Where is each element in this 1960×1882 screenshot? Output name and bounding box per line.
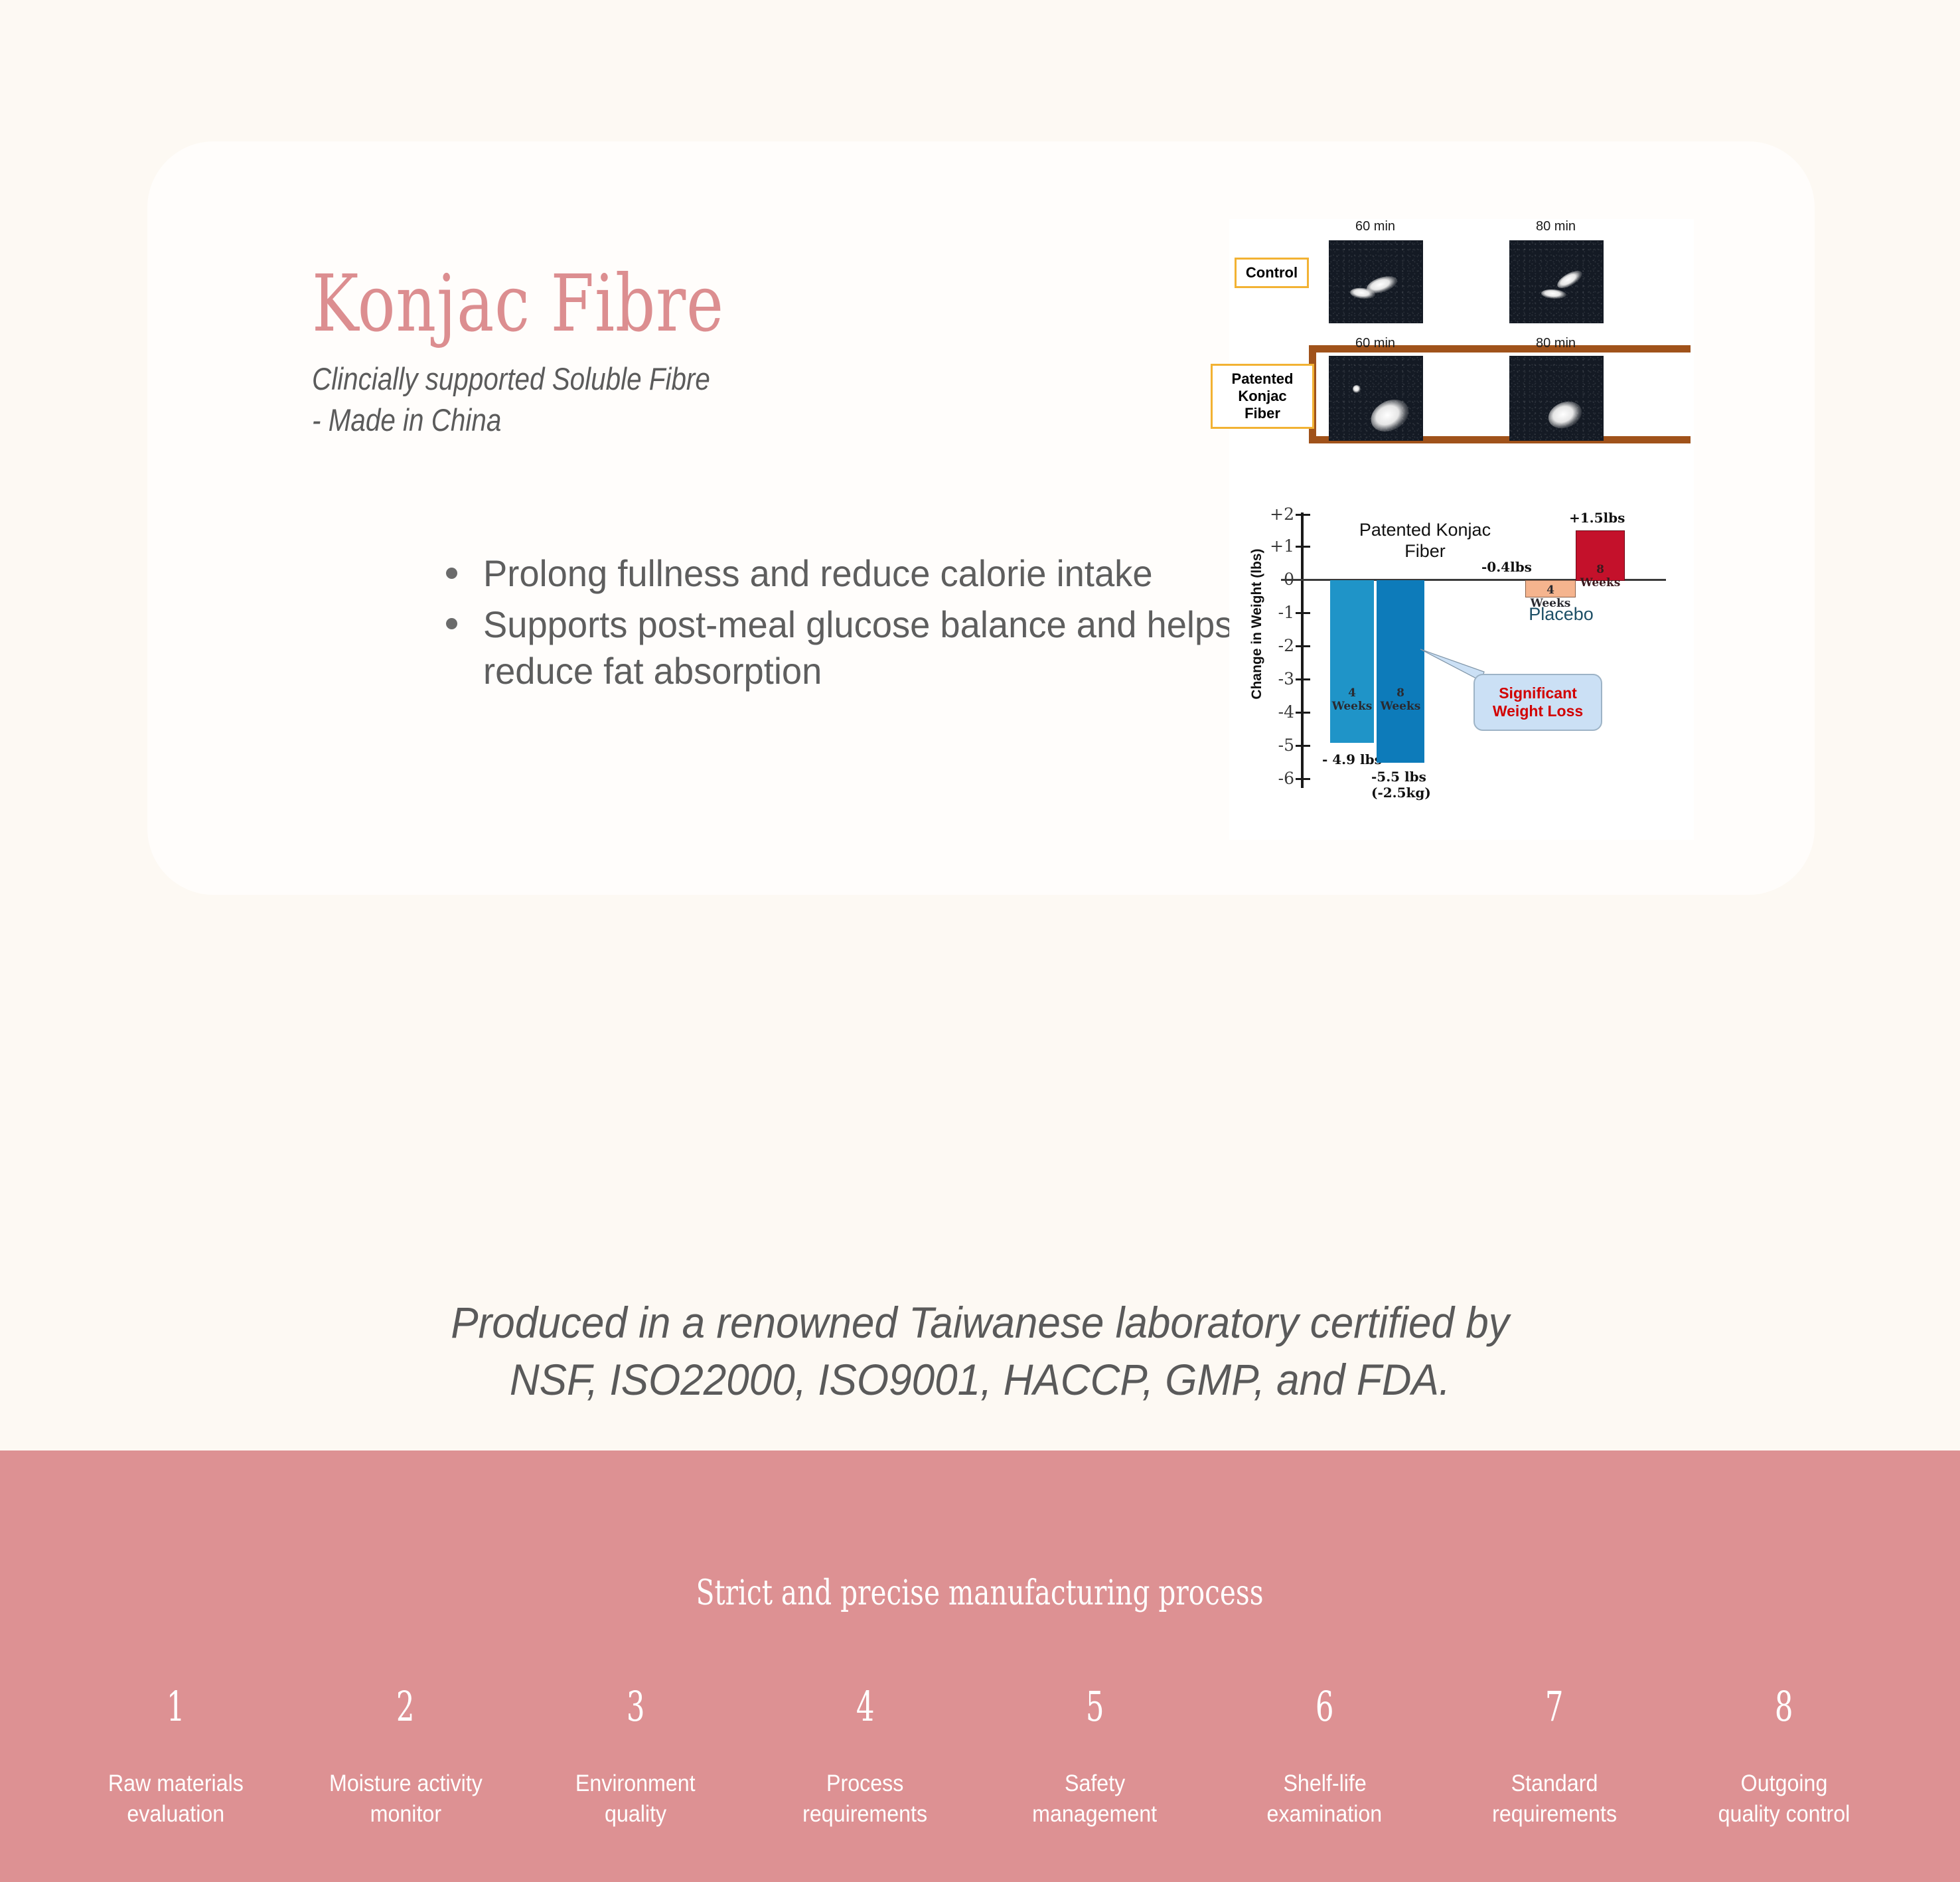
step-label-line-1: Shelf-life <box>1283 1768 1366 1799</box>
y-tick-label: -4 <box>1257 702 1294 722</box>
step-label-line-2: requirements <box>802 1799 927 1830</box>
konjac-label-line-2: Konjac Fiber <box>1219 388 1306 422</box>
scan-time-label: 80 min <box>1516 336 1596 351</box>
bar-konjac-4weeks: 4 Weeks <box>1330 580 1374 743</box>
certification-line-2: NSF, ISO22000, ISO9001, HACCP, GMP, and … <box>59 1352 1902 1409</box>
bar-inner-label: 4 Weeks <box>1330 686 1374 713</box>
process-step-3: 3 Environment quality <box>526 1686 745 1830</box>
process-heading-text: Strict and precise manufacturing process <box>696 1573 1264 1613</box>
title-block: Konjac Fibre Clincially supported Solubl… <box>312 264 1274 441</box>
step-label-line-2: monitor <box>370 1799 441 1830</box>
y-tick-mark <box>1296 546 1310 548</box>
step-number-text: 2 <box>396 1686 415 1727</box>
subtitle-line-2: - Made in China <box>312 400 1140 441</box>
scan-noise-texture <box>1509 240 1604 323</box>
y-tick-label: -3 <box>1257 669 1294 688</box>
step-number: 2 <box>296 1686 515 1727</box>
bar-value-konjac-8weeks: -5.5 lbs (-2.5kg) <box>1371 769 1431 801</box>
step-label-line-1: Raw materials <box>108 1768 244 1799</box>
step-number-text: 6 <box>1316 1686 1334 1727</box>
step-number: 4 <box>755 1686 974 1727</box>
y-tick-mark <box>1296 712 1310 714</box>
callout-line-1: Significant <box>1493 684 1583 702</box>
step-label: Shelf-life examination <box>1215 1768 1434 1830</box>
process-step-4: 4 Process requirements <box>755 1686 974 1830</box>
step-number-text: 3 <box>626 1686 644 1727</box>
step-label-line-1: Outgoing <box>1741 1768 1828 1799</box>
page-title: Konjac Fibre <box>312 264 1082 343</box>
bar-konjac-8weeks: 8 Weeks <box>1377 580 1424 763</box>
benefit-bullet-list: Prolong fullness and reduce calorie inta… <box>431 550 1268 699</box>
bar-inner-label: 8 Weeks <box>1377 686 1424 713</box>
step-number: 3 <box>526 1686 745 1727</box>
clinical-evidence-figure: 60 min 80 min Control 60 min 80 min <box>1229 219 1694 840</box>
bar-placebo-4weeks: 4 Weeks <box>1525 580 1576 597</box>
gastric-emptying-scan-figure: 60 min 80 min Control 60 min 80 min <box>1229 219 1694 498</box>
step-number-text: 4 <box>856 1686 875 1727</box>
y-tick-label: +2 <box>1257 505 1294 524</box>
process-step-5: 5 Safety management <box>986 1686 1205 1830</box>
y-tick-label: -5 <box>1257 736 1294 755</box>
step-label: Safety management <box>986 1768 1205 1830</box>
certification-line-1: Produced in a renowned Taiwanese laborat… <box>59 1294 1902 1352</box>
step-label-line-1: Standard <box>1511 1768 1598 1799</box>
step-number: 8 <box>1675 1686 1894 1727</box>
y-tick-label: -6 <box>1257 769 1294 788</box>
subtitle-line-1: Clincially supported Soluble Fibre <box>312 358 1140 400</box>
scan-image-konjac-60 <box>1329 356 1423 441</box>
hero-card: Konjac Fibre Clincially supported Solubl… <box>147 141 1815 895</box>
series-label-line-1: Patented Konjac <box>1342 519 1508 540</box>
bullet-dot-icon <box>446 568 457 579</box>
list-item: Prolong fullness and reduce calorie inta… <box>431 550 1268 597</box>
scan-image-control-80 <box>1509 240 1604 323</box>
process-step-8: 8 Outgoing quality control <box>1675 1686 1894 1830</box>
step-number: 6 <box>1215 1686 1434 1727</box>
list-item: Supports post-meal glucose balance and h… <box>431 601 1268 695</box>
y-tick-mark <box>1296 678 1310 680</box>
step-label: Moisture activity monitor <box>296 1768 515 1830</box>
konjac-label-box: Patented Konjac Fiber <box>1211 364 1314 429</box>
step-label-line-1: Moisture activity <box>329 1768 483 1799</box>
significant-weight-loss-callout: Significant Weight Loss <box>1473 674 1602 731</box>
step-label: Standard requirements <box>1445 1768 1664 1830</box>
step-label: Environment quality <box>526 1768 745 1830</box>
step-number-text: 8 <box>1775 1686 1793 1727</box>
scan-image-control-60 <box>1329 240 1423 323</box>
step-number-text: 5 <box>1086 1686 1104 1727</box>
y-tick-mark <box>1296 645 1310 647</box>
step-label-line-2: quality <box>605 1799 666 1830</box>
process-step-7: 7 Standard requirements <box>1445 1686 1664 1830</box>
y-tick-label: 0 <box>1257 570 1294 589</box>
bullet-dot-icon <box>446 618 457 629</box>
scan-time-label: 80 min <box>1516 219 1596 234</box>
bar-value-line-1: -5.5 lbs <box>1371 769 1431 785</box>
bar-value-placebo-4weeks: -0.4lbs <box>1481 559 1532 575</box>
y-tick-label: +1 <box>1257 536 1294 556</box>
callout-pointer-icon <box>1420 649 1484 681</box>
step-label-line-1: Process <box>826 1768 903 1799</box>
weight-change-bar-chart: Change in Weight (lbs) +2 +1 0 -1 -2 -3 … <box>1229 505 1694 840</box>
step-label-line-2: quality control <box>1718 1799 1850 1830</box>
process-step-2: 2 Moisture activity monitor <box>296 1686 515 1830</box>
step-label-line-2: requirements <box>1492 1799 1617 1830</box>
certification-caption: Produced in a renowned Taiwanese laborat… <box>0 1294 1960 1409</box>
bar-value-placebo-8weeks: +1.5lbs <box>1569 510 1625 526</box>
scan-time-label: 60 min <box>1335 336 1415 351</box>
step-label-line-2: management <box>1033 1799 1158 1830</box>
step-number: 1 <box>66 1686 285 1727</box>
bar-placebo-8weeks: 8 Weeks <box>1576 530 1625 581</box>
benefit-text: Supports post-meal glucose balance and h… <box>483 601 1244 695</box>
bar-value-line-2: (-2.5kg) <box>1371 785 1431 801</box>
step-number: 5 <box>986 1686 1205 1727</box>
step-number-text: 7 <box>1545 1686 1564 1727</box>
control-label-text: Control <box>1246 264 1298 281</box>
y-tick-mark <box>1296 745 1310 747</box>
step-label: Process requirements <box>755 1768 974 1830</box>
y-tick-mark <box>1296 514 1310 516</box>
benefit-text: Prolong fullness and reduce calorie inta… <box>483 550 1244 597</box>
scan-image-konjac-80 <box>1509 356 1604 441</box>
process-step-list: 1 Raw materials evaluation 2 Moisture ac… <box>66 1686 1894 1830</box>
step-number: 7 <box>1445 1686 1664 1727</box>
step-label: Raw materials evaluation <box>66 1768 285 1830</box>
step-number-text: 1 <box>167 1686 185 1727</box>
callout-line-2: Weight Loss <box>1493 702 1583 720</box>
process-heading: Strict and precise manufacturing process <box>0 1573 1960 1613</box>
y-tick-label: -2 <box>1257 636 1294 655</box>
y-tick-label: -1 <box>1257 603 1294 622</box>
step-label-line-2: evaluation <box>127 1799 225 1830</box>
control-label-box: Control <box>1235 258 1309 288</box>
manufacturing-process-footer: Strict and precise manufacturing process… <box>0 1451 1960 1882</box>
step-label-line-1: Safety <box>1065 1768 1125 1799</box>
step-label-line-2: examination <box>1267 1799 1383 1830</box>
chart-series-label-placebo: Placebo <box>1495 604 1627 625</box>
bar-inner-label: 8 Weeks <box>1576 563 1624 589</box>
process-step-6: 6 Shelf-life examination <box>1215 1686 1434 1830</box>
konjac-label-line-1: Patented <box>1219 370 1306 388</box>
y-tick-mark <box>1296 612 1310 614</box>
chart-series-label-konjac: Patented Konjac Fiber <box>1342 519 1508 562</box>
page-subtitle: Clincially supported Soluble Fibre - Mad… <box>312 358 1274 441</box>
y-tick-mark <box>1296 778 1310 780</box>
scan-noise-texture <box>1509 356 1604 441</box>
process-step-1: 1 Raw materials evaluation <box>66 1686 285 1830</box>
step-label-line-1: Environment <box>575 1768 696 1799</box>
step-label: Outgoing quality control <box>1675 1768 1894 1830</box>
bar-value-konjac-4weeks: - 4.9 lbs <box>1322 751 1382 767</box>
scan-time-label: 60 min <box>1335 219 1415 234</box>
scan-blob <box>1353 385 1361 393</box>
